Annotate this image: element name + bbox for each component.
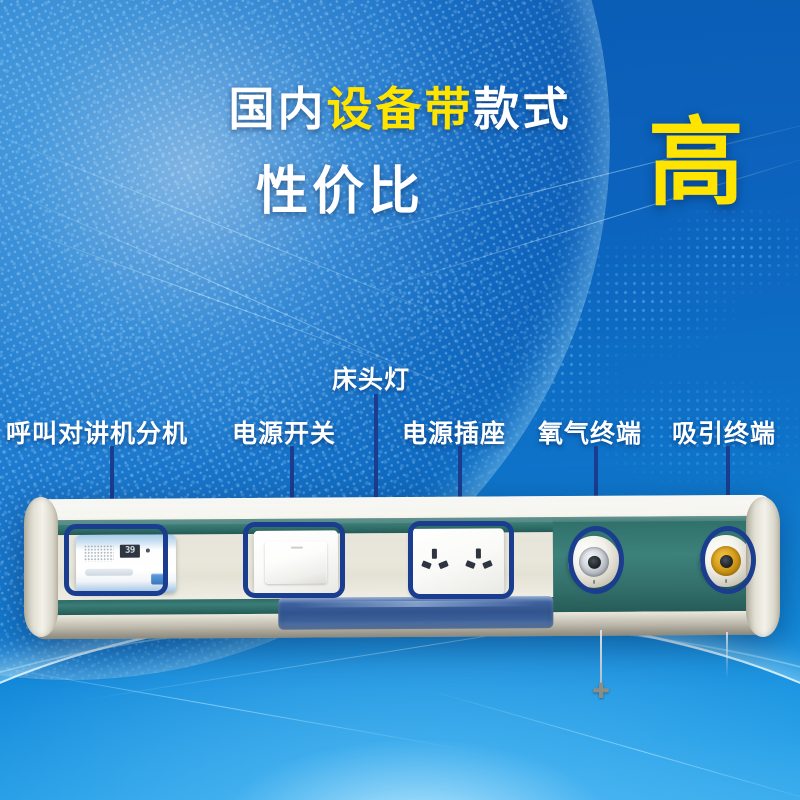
suction-terminal-core (711, 546, 741, 576)
cord-connector-icon: ✚ (591, 682, 611, 702)
power-switch[interactable] (254, 530, 338, 595)
speaker-grille-icon (84, 545, 114, 562)
callout-label-oxygen-terminal: 氧气终端 (538, 414, 642, 450)
power-socket[interactable] (410, 528, 504, 595)
socket-outlet-right[interactable] (465, 548, 493, 572)
suction-terminal[interactable] (700, 535, 752, 587)
light-streaks (0, 0, 800, 800)
oxygen-terminal[interactable] (568, 536, 620, 588)
intercom-call-button[interactable] (151, 573, 167, 584)
horizon-arc-outer (0, 620, 800, 800)
intercom-display: 39 (120, 545, 140, 558)
headline-part-3: 款式 (474, 83, 572, 135)
callout-label-intercom-extension: 呼叫对讲机分机 (6, 414, 188, 450)
callout-label-suction-terminal: 吸引终端 (672, 414, 776, 450)
oxygen-terminal-marker (593, 580, 595, 584)
power-switch-rocker[interactable] (265, 541, 327, 583)
callout-label-bedside-light: 床头灯 (332, 360, 410, 396)
socket-outlet-left[interactable] (421, 549, 449, 573)
intercom-label-strip (85, 569, 133, 576)
headline: 国内设备带款式 性价比 高 (0, 86, 800, 218)
socket-pin-left (465, 560, 476, 569)
headline-part-2-highlight: 设备带 (327, 83, 474, 135)
suction-hose-cord (726, 632, 728, 678)
suction-terminal-port (719, 554, 732, 567)
bedside-light[interactable] (278, 596, 553, 630)
oxygen-terminal-core (579, 547, 609, 577)
headline-line-2: 性价比 (0, 166, 800, 218)
corner-glow (0, 0, 500, 480)
socket-pin-top (432, 549, 437, 559)
socket-pin-right (438, 560, 449, 569)
headline-part-1: 国内 (229, 83, 327, 135)
intercom-top-row: 39 (84, 541, 169, 562)
headline-emphasis: 高 (648, 116, 744, 212)
panel-end-cap-right (746, 497, 780, 637)
socket-pin-right (482, 560, 493, 569)
status-led-icon (146, 549, 150, 553)
promo-banner: 国内设备带款式 性价比 高 呼叫对讲机分机 电源开关 床头灯 电源插座 氧气终端… (0, 0, 800, 800)
panel-body: 39 (28, 495, 777, 640)
suction-terminal-marker (725, 579, 727, 583)
socket-hole-pairs (410, 548, 504, 573)
callout-layer: 呼叫对讲机分机 电源开关 床头灯 电源插座 氧气终端 吸引终端 (0, 0, 800, 800)
intercom-extension[interactable]: 39 (76, 534, 176, 593)
callout-label-power-socket: 电源插座 (402, 414, 506, 450)
socket-pin-top (476, 549, 481, 559)
medical-bed-head-unit: 39 (28, 497, 776, 637)
oxygen-terminal-port (587, 555, 600, 568)
panel-end-cap-left (24, 497, 58, 637)
socket-pin-left (421, 560, 432, 569)
callout-label-power-switch: 电源开关 (232, 414, 336, 450)
headline-line-1: 国内设备带款式 (0, 86, 800, 132)
world-map-dot-pattern (0, 0, 800, 800)
